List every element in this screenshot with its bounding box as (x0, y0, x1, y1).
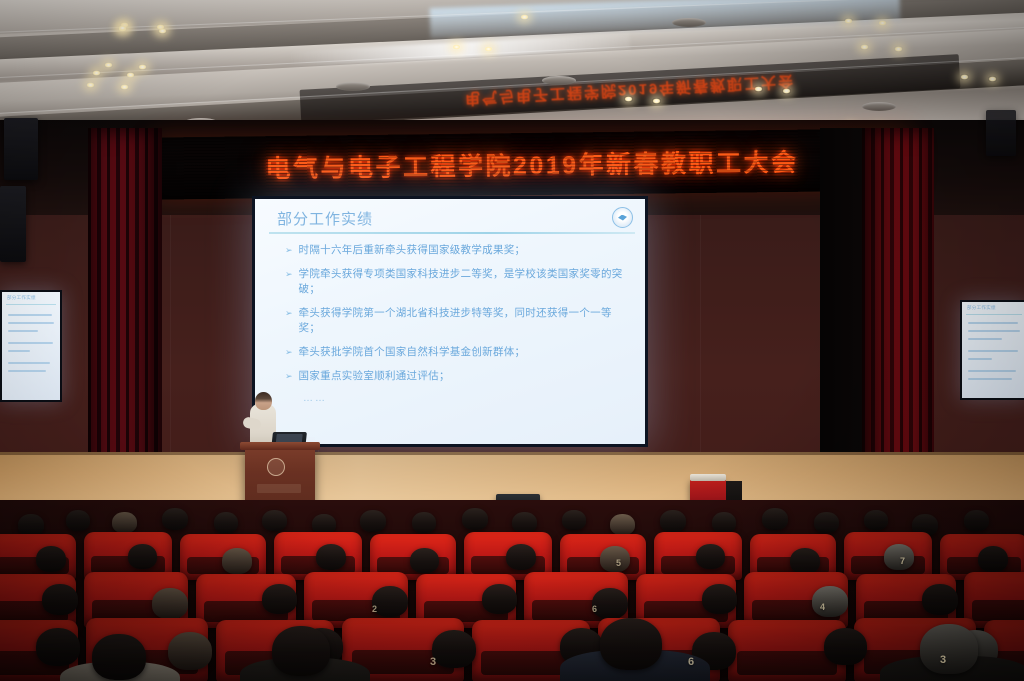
ceiling-vent (672, 18, 706, 27)
presentation-slide: 部分工作实绩 ➢ 时隔十六年后重新牵头获得国家级教学成果奖； ➢ 学院牵头获得专… (255, 199, 645, 444)
side-monitor-text-line (8, 342, 53, 344)
audience-head (790, 548, 820, 574)
audience-seating: 5 7 2 6 4 (0, 500, 1024, 681)
audience-head (964, 510, 989, 531)
stage-shadow-panel (820, 128, 866, 508)
audience-head (610, 514, 635, 535)
audience-head (42, 584, 78, 615)
audience-head (884, 544, 914, 570)
bullet-marker-icon: ➢ (285, 369, 293, 384)
ceiling-downlight (960, 74, 969, 80)
audience-head (712, 512, 736, 533)
led-banner: 电气与电子工程学院2019年新春教职工大会 (152, 128, 913, 199)
seat-number-label: 6 (688, 656, 694, 668)
audience-head (262, 584, 297, 614)
university-emblem-icon (612, 207, 633, 228)
audience-head (824, 628, 867, 665)
side-monitor-text-line (8, 330, 38, 332)
audience-head (978, 546, 1008, 572)
hanging-speaker (986, 110, 1016, 156)
audience-head (864, 510, 888, 530)
audience-head (482, 584, 517, 614)
audience-head (112, 512, 137, 533)
ceiling-downlight (878, 20, 887, 26)
seat-number-label: 4 (820, 602, 825, 612)
bullet-marker-icon: ➢ (285, 345, 293, 360)
ceiling-vent (336, 82, 370, 91)
audience-head (562, 510, 586, 530)
ceiling-downlight (844, 18, 853, 24)
side-monitor-text-line (968, 350, 1018, 352)
ceiling-downlight (120, 84, 129, 90)
audience-head (312, 514, 336, 534)
slide-bullet: ➢ 国家重点实验室顺利通过评估； (285, 369, 629, 384)
audience-head (66, 510, 90, 531)
ceiling-downlight (754, 86, 763, 92)
ceiling: 电气与电子工程学院2019年新春教职工大会 (0, 0, 1024, 138)
slide-bullet-text: 牵头获得学院第一个湖北省科技进步特等奖，同时还获得一个一等奖； (299, 306, 629, 336)
slide-bullet: ➢ 牵头获批学院首个国家自然科学基金创新群体； (285, 345, 629, 360)
ceiling-downlight (138, 64, 147, 70)
audience-head (360, 510, 386, 532)
slide-bullet-text: 牵头获批学院首个国家自然科学基金创新群体； (299, 345, 526, 360)
slide-bullet-list: ➢ 时隔十六年后重新牵头获得国家级教学成果奖； ➢ 学院牵头获得专项类国家科技进… (285, 243, 629, 404)
seat-number-label: 3 (430, 656, 436, 668)
presenter-head (255, 392, 272, 410)
ceiling-downlight (86, 82, 95, 88)
audience-head (18, 514, 44, 536)
podium-nameplate (257, 484, 301, 493)
side-monitor-text-line (968, 338, 1002, 340)
auditorium-photo: 电气与电子工程学院2019年新春教职工大会 (0, 0, 1024, 681)
slide-divider (269, 232, 635, 234)
slide-bullet: ➢ 时隔十六年后重新牵头获得国家级教学成果奖； (285, 243, 629, 258)
audience-head (432, 630, 476, 668)
audience-head (814, 512, 839, 533)
side-monitor-title: 部分工作实绩 (967, 305, 996, 311)
audience-head (128, 544, 157, 569)
ceiling-downlight (894, 46, 903, 52)
bullet-marker-icon: ➢ (285, 243, 293, 258)
audience-head (660, 510, 686, 532)
audience-head (462, 508, 488, 530)
ceiling-downlight (860, 44, 869, 50)
side-monitor-text-line (968, 378, 1012, 380)
seat-number-label: 6 (592, 604, 597, 614)
ceiling-downlight (988, 76, 997, 82)
seat-number-label: 7 (900, 556, 905, 566)
podium-emblem-icon (267, 458, 285, 476)
ceiling-downlight (484, 46, 493, 52)
side-monitor-slide: 部分工作实绩 (962, 302, 1024, 398)
ceiling-downlight (158, 28, 167, 34)
audience-head (812, 586, 848, 617)
side-monitor-left: 部分工作实绩 (0, 290, 62, 402)
seat-number-label: 2 (372, 604, 377, 614)
stage-curtain-left (88, 128, 162, 508)
slide-bullet-text: 时隔十六年后重新牵头获得国家级教学成果奖； (299, 243, 526, 258)
audience-head (168, 632, 212, 670)
audience-head (36, 628, 80, 666)
ceiling-downlight (520, 14, 529, 20)
hanging-speaker (4, 118, 38, 180)
slide-bullet-text: 国家重点实验室顺利通过评估； (299, 369, 450, 384)
audience-head (600, 618, 662, 670)
audience-head (222, 548, 252, 574)
audience-head (410, 548, 439, 573)
side-monitor-divider (966, 314, 1022, 315)
audience-head (922, 584, 958, 615)
side-monitor-right: 部分工作实绩 (960, 300, 1024, 400)
ceiling-vent (542, 76, 576, 85)
side-monitor-text-line (968, 322, 1018, 324)
side-monitor-text-line (968, 358, 992, 360)
side-monitor-slide: 部分工作实绩 (2, 292, 60, 400)
side-monitor-text-line (8, 362, 50, 364)
side-monitor-text-line (8, 314, 52, 316)
podium-top-surface (240, 442, 320, 450)
audience-head (600, 546, 630, 572)
audience-head (36, 546, 66, 572)
ceiling-vent (862, 102, 896, 111)
slide-continuation: …… (303, 393, 629, 404)
projection-screen: 部分工作实绩 ➢ 时隔十六年后重新牵头获得国家级教学成果奖； ➢ 学院牵头获得专… (252, 196, 648, 447)
stage-floor-edge (0, 452, 1024, 455)
audience-head (162, 508, 188, 530)
audience-head (372, 586, 408, 617)
bullet-marker-icon: ➢ (285, 267, 293, 297)
seat-number-label: 5 (616, 558, 621, 568)
audience-head (506, 544, 536, 570)
audience-head (696, 544, 725, 569)
led-banner-text: 电气与电子工程学院2019年新春教职工大会 (152, 141, 912, 186)
slide-bullet: ➢ 学院牵头获得专项类国家科技进步二等奖，是学校该类国家奖零的突破； (285, 267, 629, 297)
side-monitor-text-line (8, 350, 30, 352)
slide-bullet-text: 学院牵头获得专项类国家科技进步二等奖，是学校该类国家奖零的突破； (299, 267, 629, 297)
audience-head (272, 626, 330, 676)
side-monitor-text-line (968, 370, 1016, 372)
ceiling-downlight (782, 88, 791, 94)
ceiling-downlight (92, 70, 101, 76)
seat-number-label: 3 (940, 654, 946, 666)
audience-head (592, 588, 628, 619)
ceiling-downlight (118, 25, 127, 31)
side-monitor-text-line (968, 330, 1020, 332)
flower-stand-top (690, 474, 726, 481)
side-monitor-divider (6, 304, 56, 305)
bullet-marker-icon: ➢ (285, 306, 293, 336)
side-monitor-text-line (8, 322, 54, 324)
side-monitor-title: 部分工作实绩 (7, 295, 36, 301)
slide-title: 部分工作实绩 (277, 208, 373, 229)
ceiling-downlight (104, 62, 113, 68)
audience-head (762, 508, 788, 530)
audience-head (152, 588, 188, 619)
ceiling-downlight (624, 96, 633, 102)
audience-head (92, 634, 146, 680)
audience-head (262, 510, 287, 531)
slide-bullet: ➢ 牵头获得学院第一个湖北省科技进步特等奖，同时还获得一个一等奖； (285, 306, 629, 336)
stage-curtain-right (862, 128, 934, 508)
audience-head (920, 624, 978, 674)
hanging-speaker (0, 186, 26, 262)
side-monitor-text-line (8, 370, 46, 372)
audience-head (702, 584, 737, 614)
ceiling-downlight (126, 72, 135, 78)
audience-head (512, 512, 537, 533)
ceiling-downlight (452, 44, 461, 50)
ceiling-downlight (652, 98, 661, 104)
audience-head (316, 544, 346, 570)
audience-head (214, 512, 238, 533)
audience-head (412, 512, 436, 533)
